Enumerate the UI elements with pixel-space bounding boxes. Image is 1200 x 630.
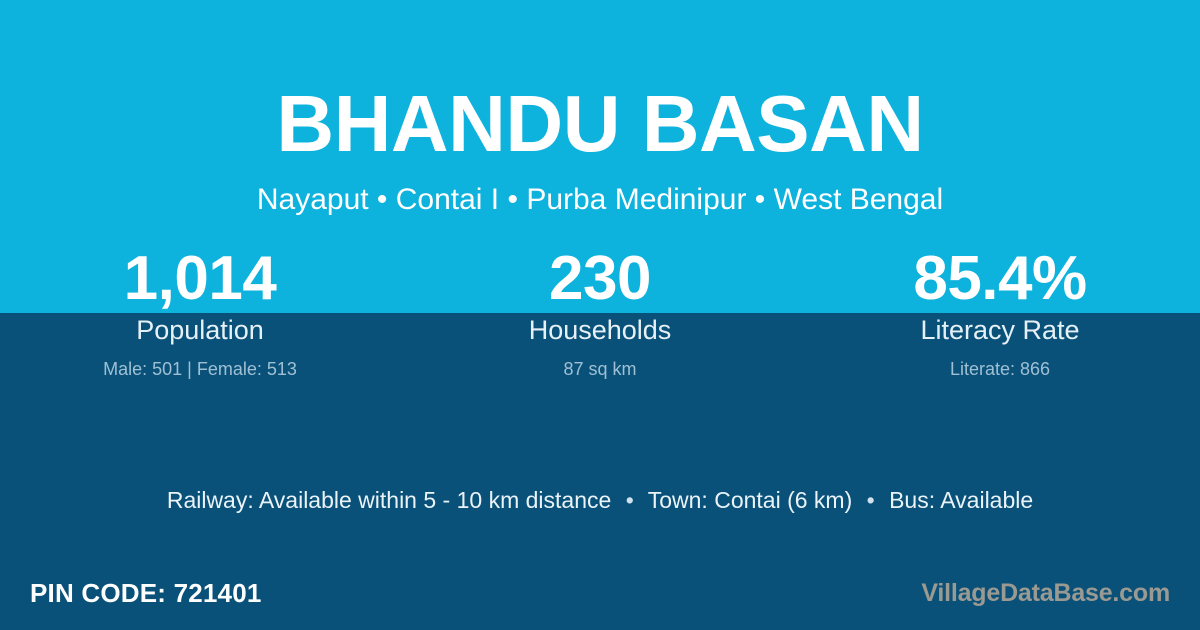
stat-literacy: 85.4% Literacy Rate Literate: 866 xyxy=(800,246,1200,381)
amenity-separator-icon: • xyxy=(859,487,883,513)
amenity-railway: Railway: Available within 5 - 10 km dist… xyxy=(167,487,611,513)
stat-population: 1,014 Population Male: 501 | Female: 513 xyxy=(0,246,400,381)
stat-literacy-value: 85.4% xyxy=(800,246,1200,312)
stat-households: 230 Households 87 sq km xyxy=(400,246,800,381)
amenity-town: Town: Contai (6 km) xyxy=(648,487,853,513)
stats-row: 1,014 Population Male: 501 | Female: 513… xyxy=(0,246,1200,381)
stat-households-label: Households xyxy=(400,313,800,347)
page-title: BHANDU BASAN xyxy=(0,84,1200,164)
site-brand: VillageDataBase.com xyxy=(921,579,1170,608)
amenity-bus: Bus: Available xyxy=(889,487,1033,513)
stat-population-value: 1,014 xyxy=(0,246,400,312)
stat-literacy-detail: Literate: 866 xyxy=(800,357,1200,381)
stat-households-value: 230 xyxy=(400,246,800,312)
stat-literacy-label: Literacy Rate xyxy=(800,313,1200,347)
village-info-card: BHANDU BASAN Nayaput • Contai I • Purba … xyxy=(0,0,1200,630)
stat-population-detail: Male: 501 | Female: 513 xyxy=(0,357,400,381)
amenities-row: Railway: Available within 5 - 10 km dist… xyxy=(0,485,1200,515)
location-breadcrumb: Nayaput • Contai I • Purba Medinipur • W… xyxy=(0,182,1200,218)
pin-code: PIN CODE: 721401 xyxy=(30,578,262,609)
amenity-separator-icon: • xyxy=(618,487,642,513)
stat-households-detail: 87 sq km xyxy=(400,357,800,381)
footer: PIN CODE: 721401 VillageDataBase.com xyxy=(0,556,1200,630)
stat-population-label: Population xyxy=(0,313,400,347)
